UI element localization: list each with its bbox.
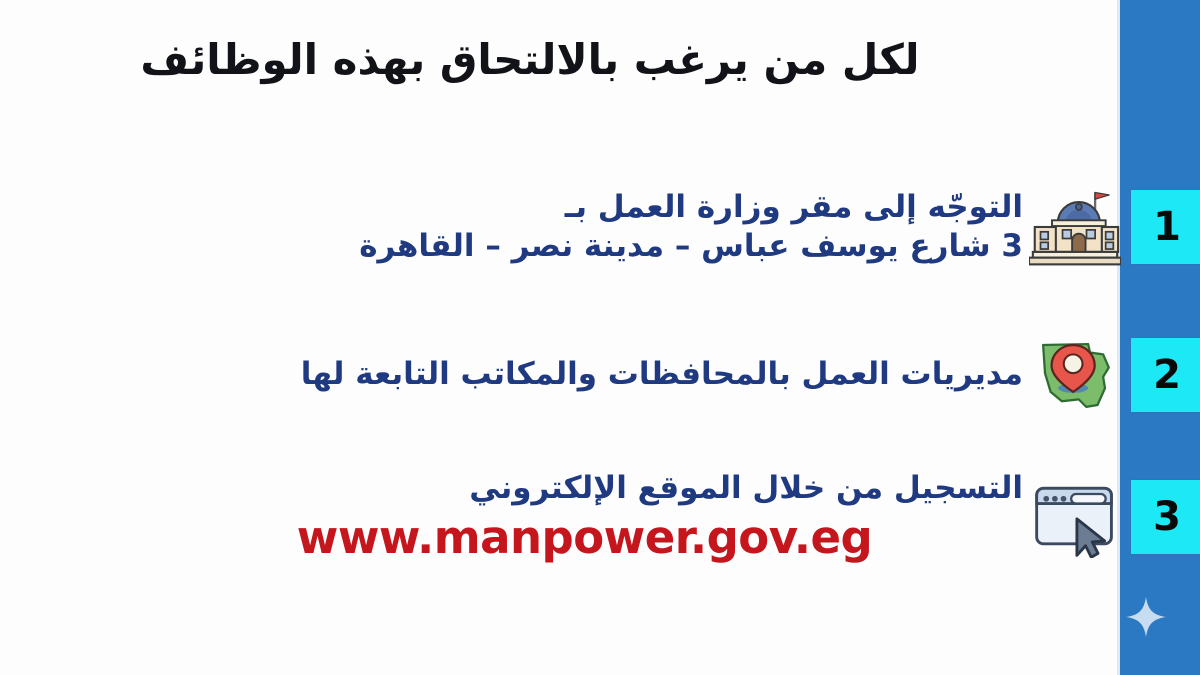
step-row-1: 1 [140,185,1165,269]
step-text-2: مديريات العمل بالمحافظات والمكاتب التابع… [100,356,1023,393]
step-1-line-a: التوجّه إلى مقر وزارة العمل بـ [146,188,1023,227]
infographic-canvas: لكل من يرغب بالالتحاق بهذه الوظائف 1 [0,0,1200,675]
website-url[interactable]: www.manpower.gov.eg [146,511,1023,564]
step-2-line-a: مديريات العمل بالمحافظات والمكاتب التابع… [106,356,1023,393]
government-building-icon [1027,185,1123,269]
step-1-line-b: 3 شارع يوسف عباس – مدينة نصر – القاهرة [146,227,1023,266]
step-text-3: التسجيل من خلال الموقع الإلكتروني www.ma… [140,470,1023,564]
step-row-2: 2 مديريات العمل بالمحافظات والمكاتب التا… [100,333,1165,417]
four-point-star-icon [1126,597,1166,637]
page-title: لكل من يرغب بالالتحاق بهذه الوظائف [0,34,1080,85]
step-text-1: التوجّه إلى مقر وزارة العمل بـ 3 شارع يو… [140,188,1023,266]
egypt-map-location-pin-icon [1027,333,1123,417]
step-3-line-a: التسجيل من خلال الموقع الإلكتروني [146,470,1023,507]
step-number-badge-2: 2 [1131,338,1200,412]
browser-window-cursor-icon [1027,475,1123,559]
step-number-badge-1: 1 [1131,190,1200,264]
step-number-badge-3: 3 [1131,480,1200,554]
step-row-3: 3 التسجيل من خلال الموقع الإلكتروني www.… [140,470,1165,564]
